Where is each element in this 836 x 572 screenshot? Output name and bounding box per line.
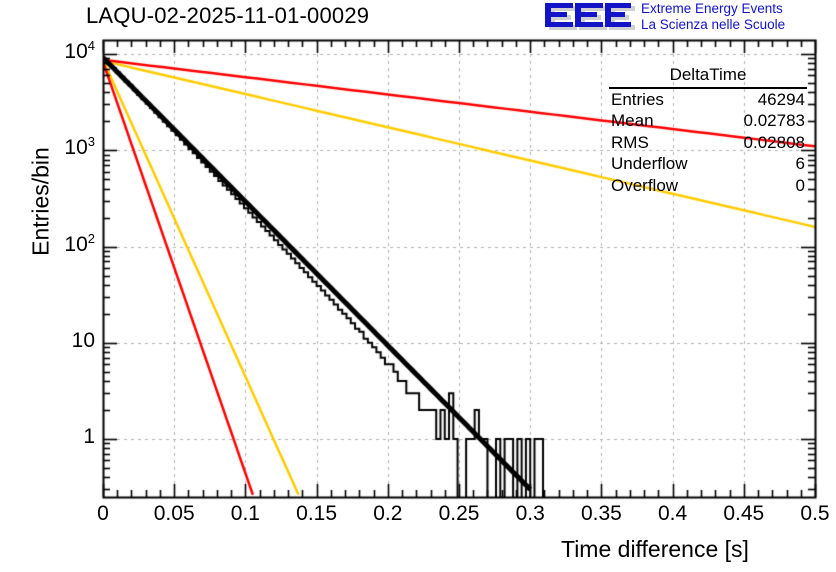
x-tick-label: 0.1: [205, 502, 285, 526]
eee-logo-line2: La Scienza nelle Scuole: [641, 17, 785, 33]
stats-row-label: Overflow: [611, 175, 678, 197]
y-tick-label: 104: [64, 40, 95, 64]
eee-logo-line1: Extreme Energy Events: [641, 1, 785, 17]
x-tick-label: 0.15: [277, 502, 357, 526]
x-tick-label: 0: [63, 502, 143, 526]
page-title: LAQU-02-2025-11-01-00029: [86, 3, 369, 29]
stats-row-label: RMS: [611, 132, 649, 154]
x-tick-label: 0.5: [775, 502, 836, 526]
stats-row-label: Mean: [611, 110, 654, 132]
eee-logo-text: Extreme Energy Events La Scienza nelle S…: [641, 1, 785, 32]
x-tick-label: 0.2: [348, 502, 428, 526]
y-tick-label: 1: [83, 425, 95, 449]
x-tick-label: 0.05: [134, 502, 214, 526]
stats-row: Overflow0: [609, 175, 807, 197]
stats-row: Underflow6: [609, 153, 807, 175]
stats-row: Mean0.02783: [609, 110, 807, 132]
stats-title: DeltaTime: [609, 64, 807, 89]
y-tick-label: 103: [64, 136, 95, 160]
eee-logo: Extreme Energy Events La Scienza nelle S…: [543, 2, 833, 34]
y-tick-label: 10: [72, 329, 95, 353]
x-tick-label: 0.35: [561, 502, 641, 526]
stats-rows: Entries46294Mean0.02783RMS0.02808Underfl…: [609, 89, 807, 197]
stats-row-value: 6: [796, 153, 805, 175]
x-axis-title: Time difference [s]: [561, 536, 749, 563]
x-tick-label: 0.3: [490, 502, 570, 526]
eee-mark-icon: [543, 2, 635, 32]
stats-row-value: 0: [796, 175, 805, 197]
x-tick-label: 0.4: [633, 502, 713, 526]
stats-row: Entries46294: [609, 89, 807, 111]
stats-box: DeltaTime Entries46294Mean0.02783RMS0.02…: [609, 64, 807, 196]
stats-row-value: 0.02783: [744, 110, 805, 132]
stats-row-value: 46294: [758, 89, 805, 111]
stats-row-label: Underflow: [611, 153, 688, 175]
y-tick-label: 102: [64, 233, 95, 257]
stats-row-value: 0.02808: [744, 132, 805, 154]
y-axis-title: Entries/bin: [28, 107, 55, 297]
stats-row: RMS0.02808: [609, 132, 807, 154]
x-tick-label: 0.45: [704, 502, 784, 526]
stats-row-label: Entries: [611, 89, 664, 111]
x-tick-label: 0.25: [419, 502, 499, 526]
